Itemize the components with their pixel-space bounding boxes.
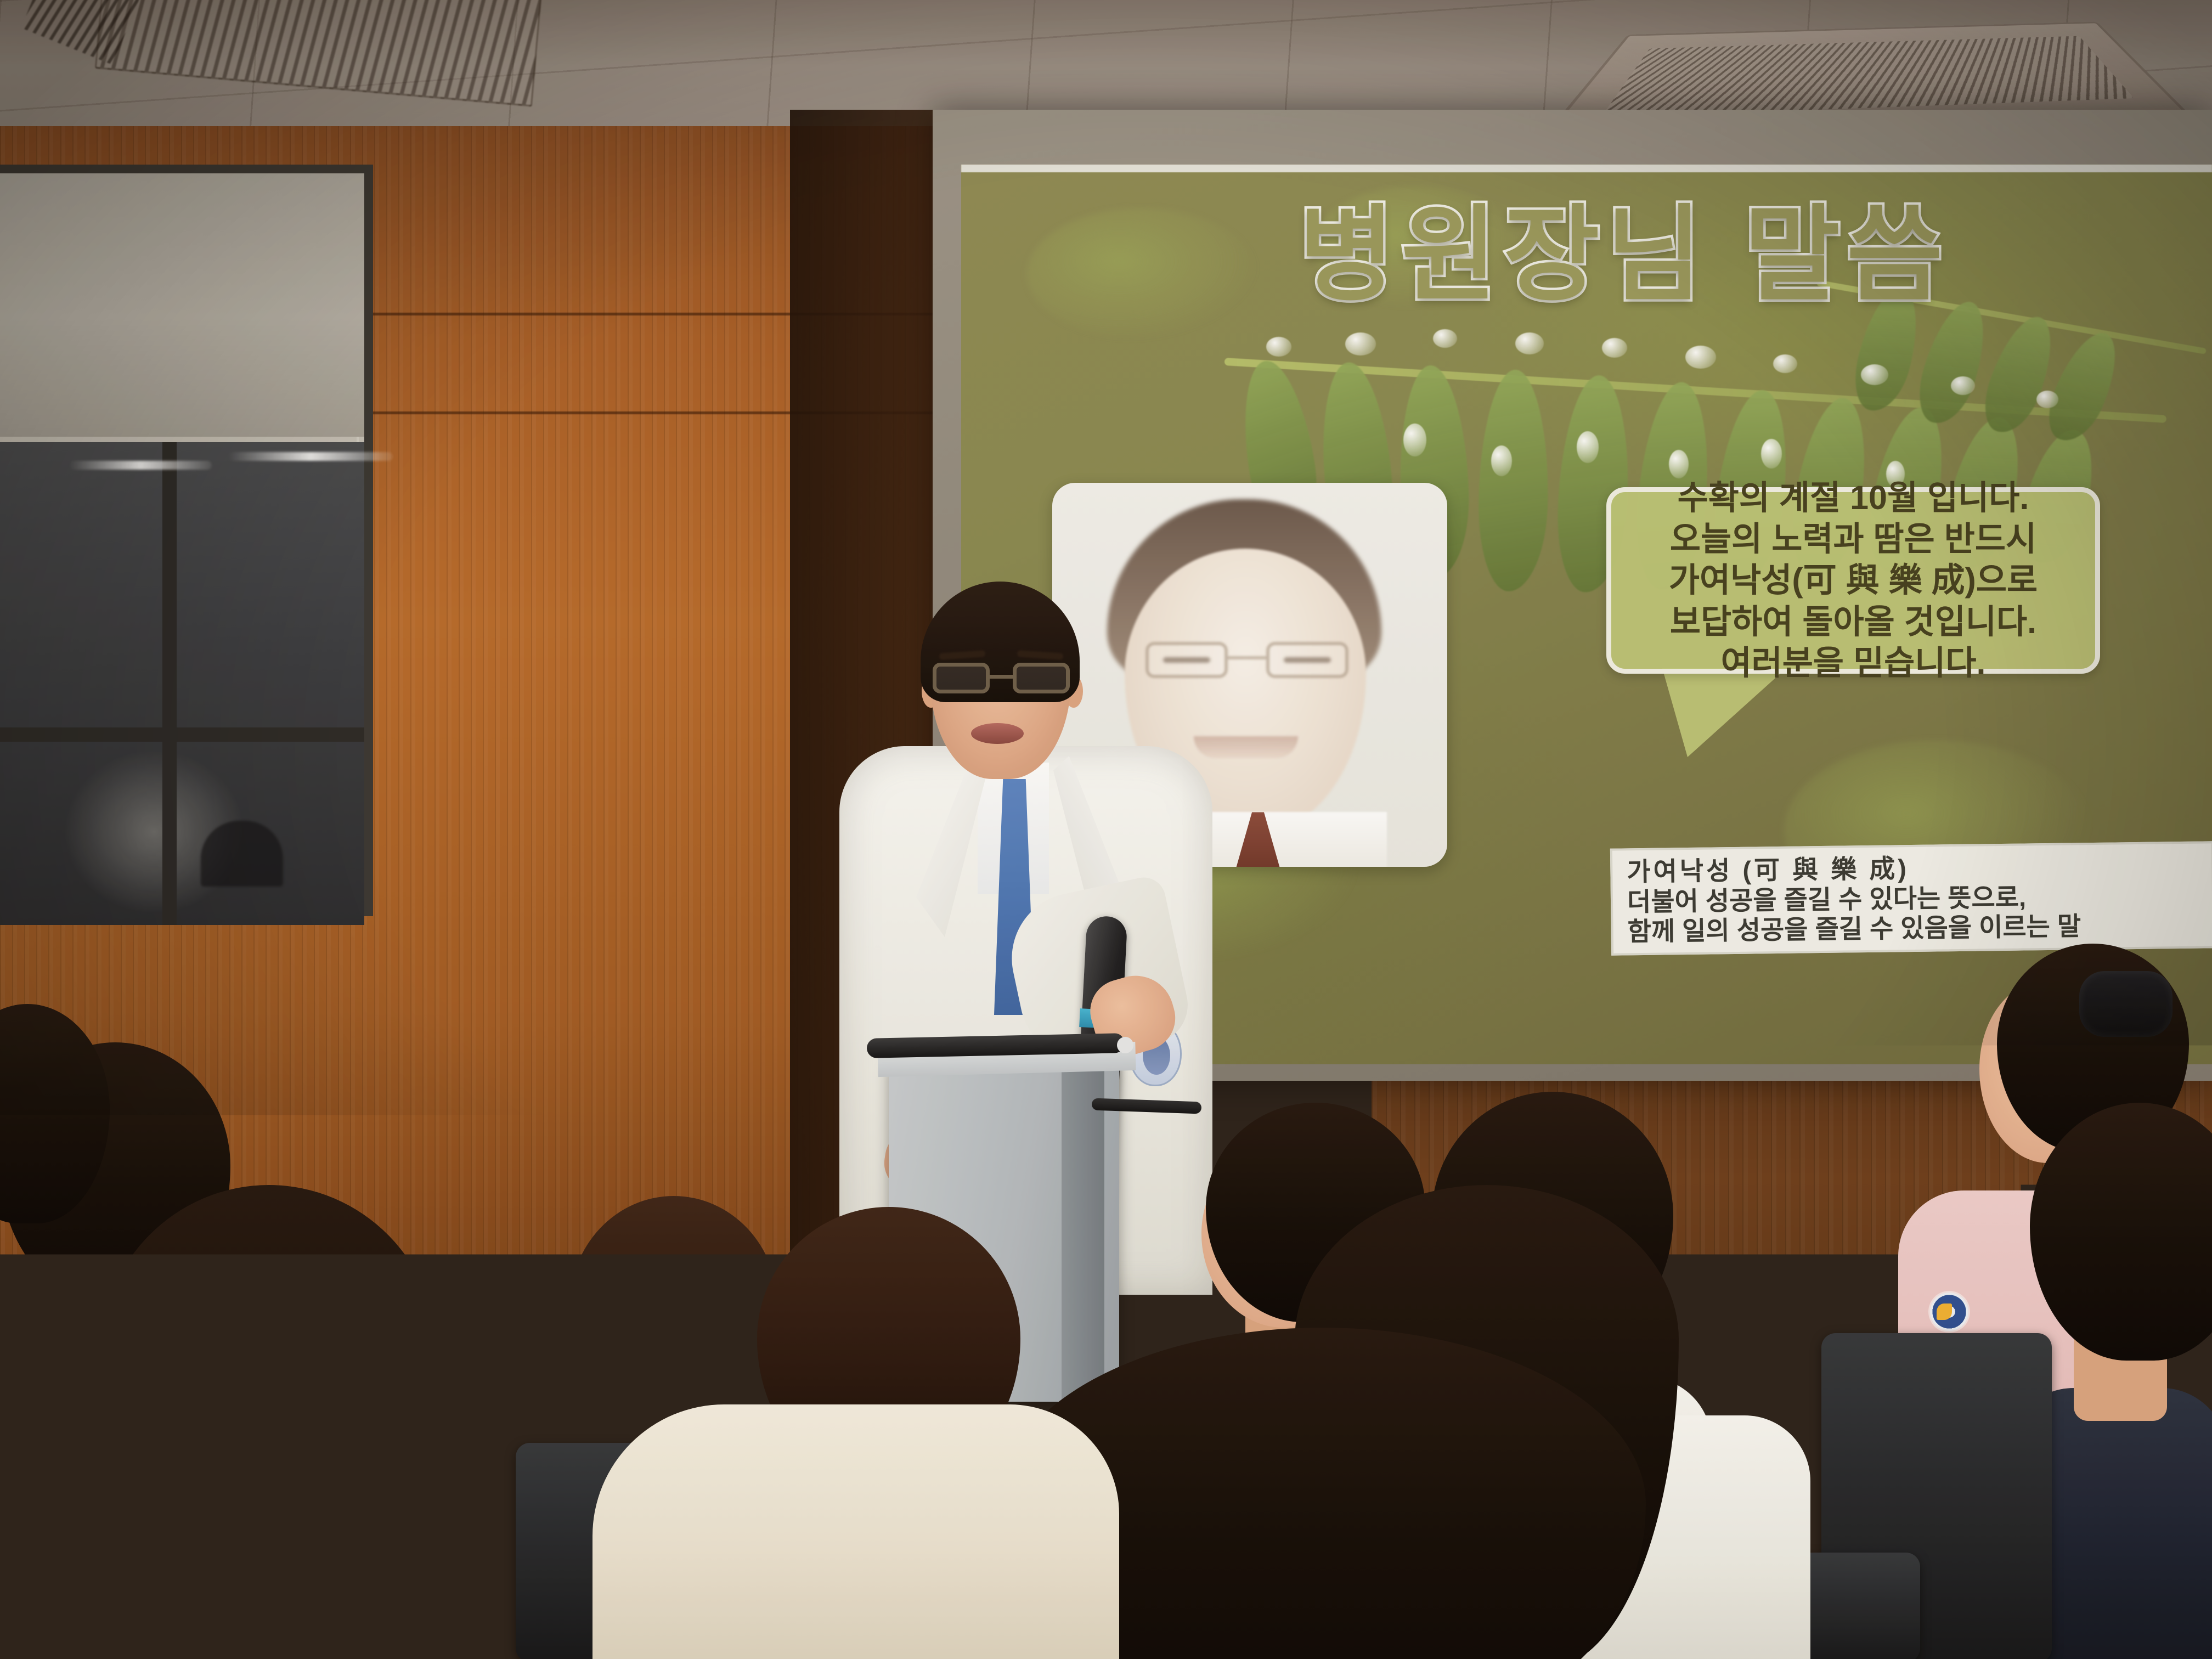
glass-reflection (69, 461, 212, 470)
shoulder-patch-icon (1930, 1293, 1968, 1331)
dewdrop (1861, 364, 1888, 385)
speaker-lens-left (933, 663, 990, 693)
dewdrop (1403, 424, 1426, 456)
dewdrop (1669, 450, 1689, 478)
speech-line: 보답하여 돌아올 것입니다. (1670, 602, 2036, 641)
speaker-glasses-bridge (990, 675, 1013, 679)
slide-top-border (961, 165, 2212, 172)
dewdrop (1761, 439, 1782, 469)
dewdrop (1951, 376, 1975, 395)
speech-line: 가여낙성(可 與 樂 成)으로 (1669, 561, 2038, 600)
dewdrop (1577, 431, 1599, 463)
list-item (592, 1339, 1119, 1659)
hair-clip (2079, 971, 2172, 1037)
window-glass (0, 442, 364, 925)
glass-reflection (228, 452, 393, 461)
speech-bubble-text: 수확의 계절 10월 입니다. 오늘의 노력과 땀은 반드시 가여낙성(可 與 … (1611, 492, 2095, 669)
speaker-mouth (971, 723, 1024, 744)
dewdrop (1266, 337, 1291, 357)
portrait-eye-right (1284, 657, 1331, 663)
window-mullion-vertical (162, 442, 177, 925)
dewdrop (2036, 391, 2058, 408)
audience-head (99, 1185, 439, 1659)
photograph-scene: 병원장님 말씀 수확의 계절 10월 입니다. 오늘의 노력과 땀은 반드시 가… (0, 0, 2212, 1659)
list-item (33, 1185, 450, 1659)
speech-bubble: 수확의 계절 10월 입니다. 오늘의 노력과 땀은 반드시 가여낙성(可 與 … (1606, 487, 2100, 674)
corridor-chair (201, 821, 283, 887)
dewdrop (1345, 332, 1376, 356)
speaker-glasses-icon (933, 663, 1070, 693)
dewdrop (1602, 338, 1627, 358)
leaflet (1477, 369, 1550, 592)
slide-title: 병원장님 말씀 (1130, 203, 2118, 307)
audience-torso (592, 1404, 1119, 1659)
dewdrop (1773, 354, 1797, 373)
speaker-lens-right (1013, 663, 1070, 693)
leaflet (2038, 324, 2130, 449)
dewdrop (1685, 346, 1716, 369)
roller-blind[interactable] (0, 173, 364, 442)
speech-line: 오늘의 노력과 땀은 반드시 (1670, 520, 2036, 558)
window (0, 165, 373, 916)
slide-caption-box: 가여낙성 (可 與 樂 成) 더불어 성공을 즐길 수 있다는 뜻으로, 함께 … (1610, 841, 2212, 955)
speech-line: 여러분을 믿습니다. (1721, 644, 1986, 682)
speech-line: 수확의 계절 10월 입니다. (1678, 478, 2029, 517)
window-mullion-horizontal (0, 727, 364, 742)
audience-head (2030, 1103, 2212, 1361)
dewdrop (1491, 445, 1512, 476)
dewdrop (1515, 332, 1544, 354)
lectern-rail-cap (1117, 1037, 1133, 1053)
portrait-glasses-bridge (1228, 656, 1266, 659)
dewdrop (1433, 329, 1457, 348)
caption-line: 함께 일의 성공을 즐길 수 있음을 이르는 말 (1627, 910, 2198, 947)
